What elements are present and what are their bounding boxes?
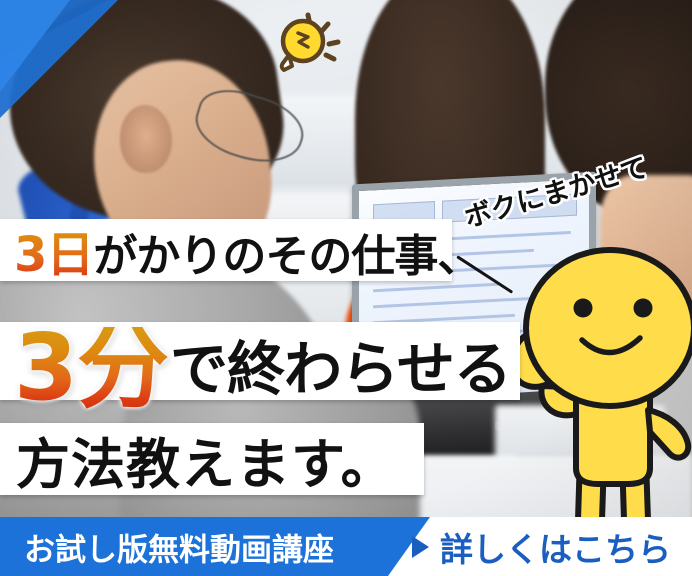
cta-blue-label: お試し版無料動画講座 bbox=[24, 524, 334, 569]
headline-band-3: 方法教えます。 bbox=[0, 423, 424, 495]
mascot-character bbox=[498, 238, 692, 538]
play-arrow-icon bbox=[412, 536, 429, 558]
headline-band-1: 3日 がかりのその仕事、 bbox=[0, 219, 452, 281]
lightbulb-icon bbox=[258, 8, 350, 78]
headline-line-1: 3日 がかりのその仕事、 bbox=[0, 215, 480, 285]
blue-corner-shape-b bbox=[0, 0, 70, 92]
headline-line-2: 3分 で終わらせる bbox=[0, 317, 511, 406]
headline-2-highlight: 3分 bbox=[14, 327, 168, 410]
headline-band-2: 3分 で終わらせる bbox=[0, 322, 520, 400]
headline-1-highlight: 3日 bbox=[14, 215, 93, 285]
promo-banner: ボクにまかせて 3日 がか bbox=[0, 0, 692, 576]
headline-line-3: 方法教えます。 bbox=[0, 420, 396, 499]
cta-link[interactable]: 詳しくはこちら bbox=[412, 523, 671, 571]
headline-2-rest: で終わらせる bbox=[170, 322, 511, 406]
cta-bar[interactable]: お試し版無料動画講座 詳しくはこちら bbox=[0, 517, 692, 576]
cta-link-label: 詳しくはこちら bbox=[440, 523, 671, 571]
headline-1-rest: がかりのその仕事、 bbox=[93, 220, 480, 284]
